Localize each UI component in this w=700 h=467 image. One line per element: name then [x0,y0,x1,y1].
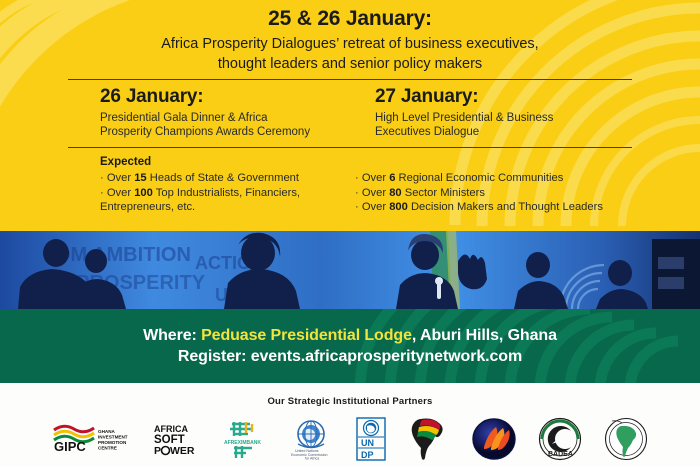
register-line[interactable]: Register: events.africaprosperitynetwork… [0,346,700,367]
expected-title: Expected [100,155,350,169]
svg-text:DP: DP [361,450,374,460]
svg-text:for Africa: for Africa [305,457,319,460]
svg-text:INVESTMENT: INVESTMENT [98,435,128,440]
svg-text:PROMOTION: PROMOTION [98,440,127,445]
list-item: · Over 15 Heads of State & Government [100,171,350,186]
undp-logo: UN DP [356,416,386,462]
day-title: 27 January: [375,86,635,108]
photo-band-image: OM AMBITION ACTION G PROSPERITY UGH [0,231,700,309]
item-post: Top Industrialists, Financiers, [153,187,300,199]
venue-location: , Aburi Hills, Ghana [412,327,557,344]
day-description-line-1: Presidential Gala Dinner & Africa [100,111,350,125]
svg-text:WER: WER [170,445,195,457]
partner-logo-row: GIPC GHANA INVESTMENT PROMOTION CENTRE A… [0,414,700,464]
day-title: 26 January: [100,86,350,108]
africa-map-logo [408,416,450,462]
day-description-line-2: Executives Dialogue [375,125,635,139]
venue-name: Peduase Presidential Lodge [201,327,412,344]
day-column-26-january: 26 January: Presidential Gala Dinner & A… [100,86,350,139]
partners-section: Our Strategic Institutional Partners GIP… [0,383,700,467]
list-item: · Over 800 Decision Makers and Thought L… [355,200,645,215]
afdb-logo [604,416,648,462]
item-post: Sector Ministers [402,187,485,199]
where-label: Where: [143,327,201,344]
event-poster: 25 & 26 January: Africa Prosperity Dialo… [0,0,700,467]
header-subtitle-line-1: Africa Prosperity Dialogues’ retreat of … [0,34,700,54]
list-item: · Over 6 Regional Economic Communities [355,171,645,186]
item-number: 80 [389,187,401,199]
svg-text:UN: UN [361,438,374,448]
svg-text:CENTRE: CENTRE [98,446,117,451]
item-pre: · Over [100,172,134,184]
afreximbank-logo: AFREXIMBANK [222,416,266,462]
orb-logo [472,416,516,462]
svg-text:GIPC: GIPC [54,439,86,454]
item-post: Regional Economic Communities [395,172,563,184]
item-pre: · Over [355,201,389,213]
venue-text-block: Where: Peduase Presidential Lodge, Aburi… [0,309,700,367]
item-number: 800 [389,201,408,213]
divider-top [68,79,632,80]
svg-text:BADEA: BADEA [548,451,573,458]
list-item: · Over 80 Sector Ministers [355,186,645,201]
day-description-line-1: High Level Presidential & Business [375,111,635,125]
partners-title: Our Strategic Institutional Partners [0,383,700,407]
list-item: Entrepreneurs, etc. [100,200,350,215]
svg-text:AFREXIMBANK: AFREXIMBANK [224,440,261,446]
header-block: 25 & 26 January: Africa Prosperity Dialo… [0,6,700,74]
header-date-line: 25 & 26 January: [0,6,700,32]
svg-text:GHANA: GHANA [98,429,116,434]
day-column-27-january: 27 January: High Level Presidential & Bu… [375,86,635,139]
africa-soft-power-logo: AFRICA SOFT P WER [152,416,200,462]
svg-text:P: P [154,445,161,457]
expected-column-right: · Over 6 Regional Economic Communities ·… [355,155,645,215]
item-post: Decision Makers and Thought Leaders [408,201,603,213]
divider-middle [68,147,632,148]
uneca-logo: United Nations Economic Commission for A… [288,416,334,462]
expected-list-left: · Over 15 Heads of State & Government · … [100,171,350,215]
item-number: 100 [134,187,153,199]
svg-text:OM AMBITION: OM AMBITION [55,244,191,266]
list-item: · Over 100 Top Industrialists, Financier… [100,186,350,201]
item-pre: · Over [355,172,389,184]
item-pre: · Over [100,187,134,199]
venue-line: Where: Peduase Presidential Lodge, Aburi… [0,325,700,346]
item-post: Heads of State & Government [147,172,299,184]
header-subtitle-line-2: thought leaders and senior policy makers [0,54,700,74]
conference-photo-band: OM AMBITION ACTION G PROSPERITY UGH [0,231,700,309]
item-pre: · Over [355,187,389,199]
expected-list-right: · Over 6 Regional Economic Communities ·… [355,171,645,215]
yellow-header-section: 25 & 26 January: Africa Prosperity Dialo… [0,0,700,231]
svg-text:AFRICA: AFRICA [154,424,188,434]
badea-logo: BADEA [538,416,582,462]
day-description-line-2: Prosperity Champions Awards Ceremony [100,125,350,139]
item-number: 15 [134,172,146,184]
gipc-logo: GIPC GHANA INVESTMENT PROMOTION CENTRE [52,416,130,462]
item-post: Entrepreneurs, etc. [100,201,195,213]
expected-column-left: Expected · Over 15 Heads of State & Gove… [100,155,350,215]
venue-green-band: Where: Peduase Presidential Lodge, Aburi… [0,309,700,383]
